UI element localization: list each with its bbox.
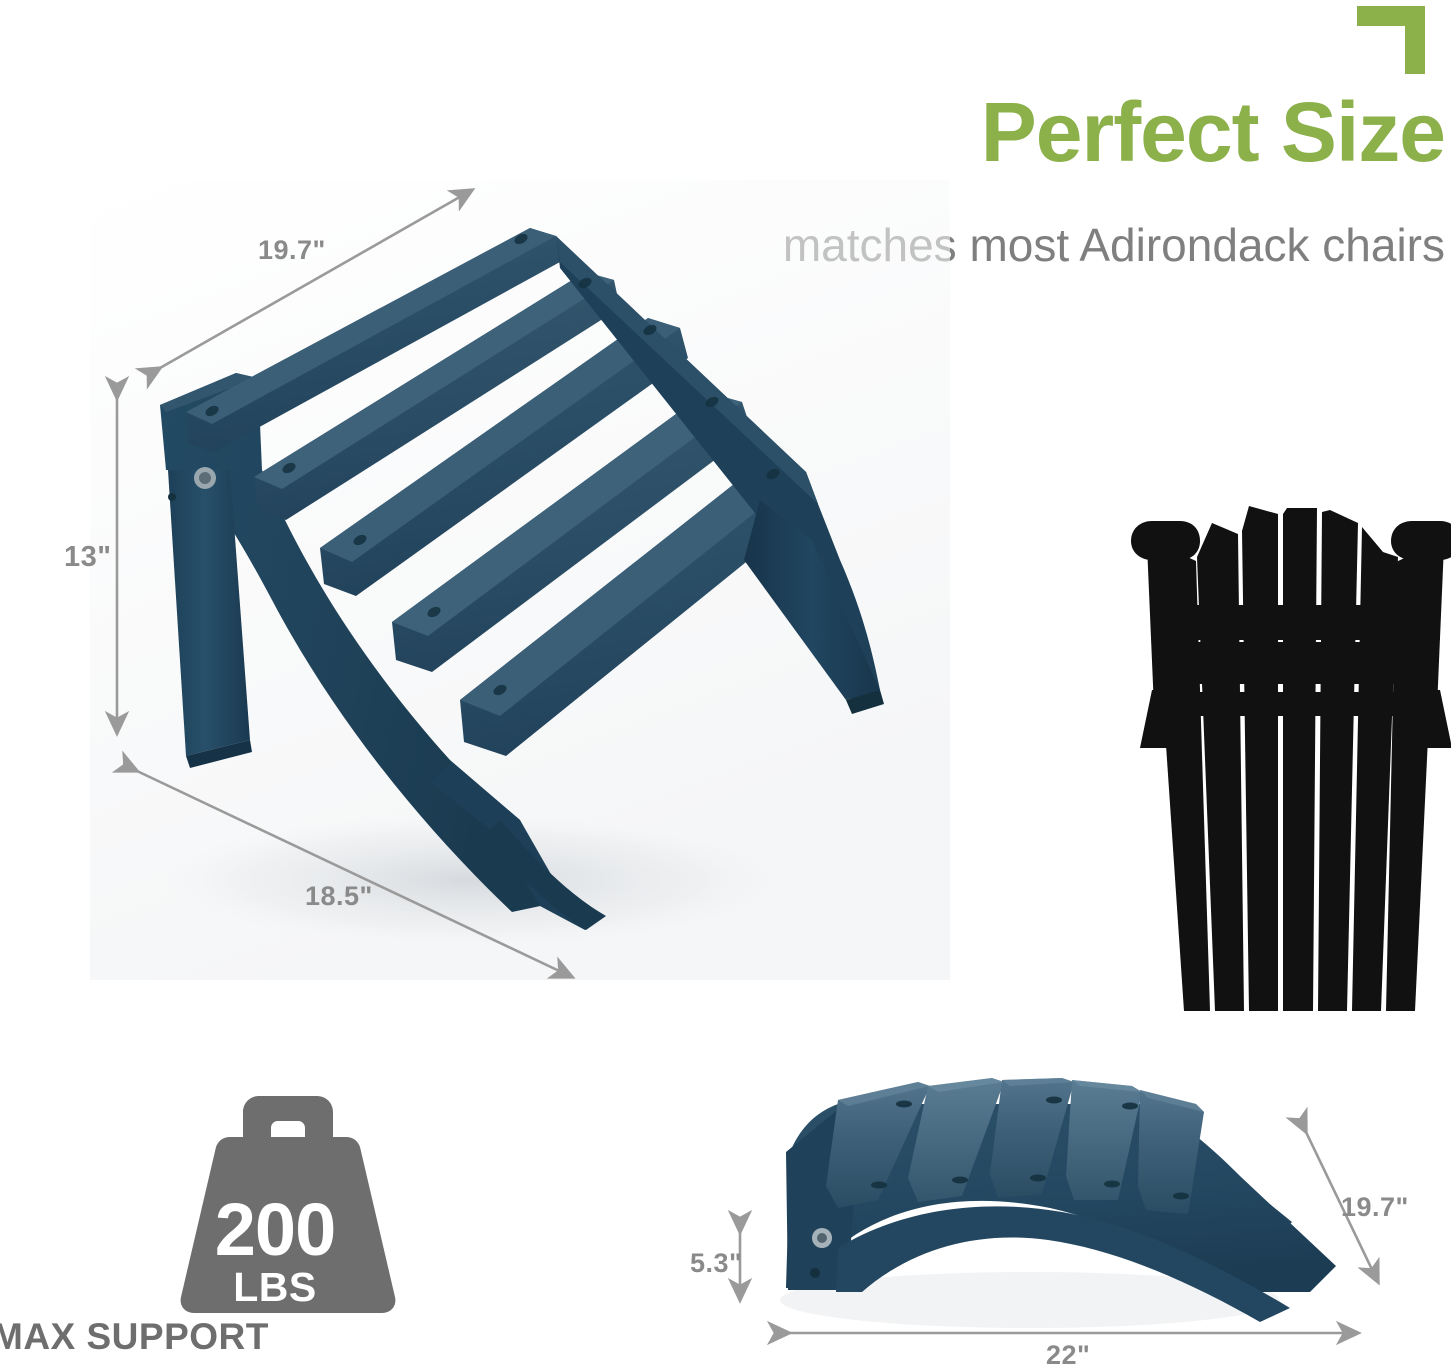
max-support-number: 200 <box>150 1193 400 1267</box>
max-support-unit: LBS <box>150 1267 400 1308</box>
headline-title: Perfect Size <box>700 90 1445 174</box>
dimension-label-width-top: 19.7" <box>258 235 326 266</box>
infographic-canvas: Perfect Size matches most Adirondack cha… <box>0 0 1451 1369</box>
headline-subtitle: matches most Adirondack chairs <box>680 222 1445 268</box>
dimension-arrow-depth <box>137 771 572 977</box>
dimension-label-folded-height: 5.3" <box>690 1248 742 1279</box>
dimension-label-folded-width: 22" <box>1046 1340 1090 1371</box>
dimension-label-depth: 18.5" <box>305 881 373 912</box>
dimension-label-height: 13" <box>64 541 112 574</box>
max-support-caption: MAX SUPPORT <box>0 1316 322 1358</box>
dimension-label-folded-depth: 19.7" <box>1341 1192 1409 1223</box>
dimension-arrow-width-top <box>160 190 472 368</box>
corner-bracket-icon <box>1357 6 1425 74</box>
corner-bracket-arm-vertical <box>1405 6 1425 74</box>
